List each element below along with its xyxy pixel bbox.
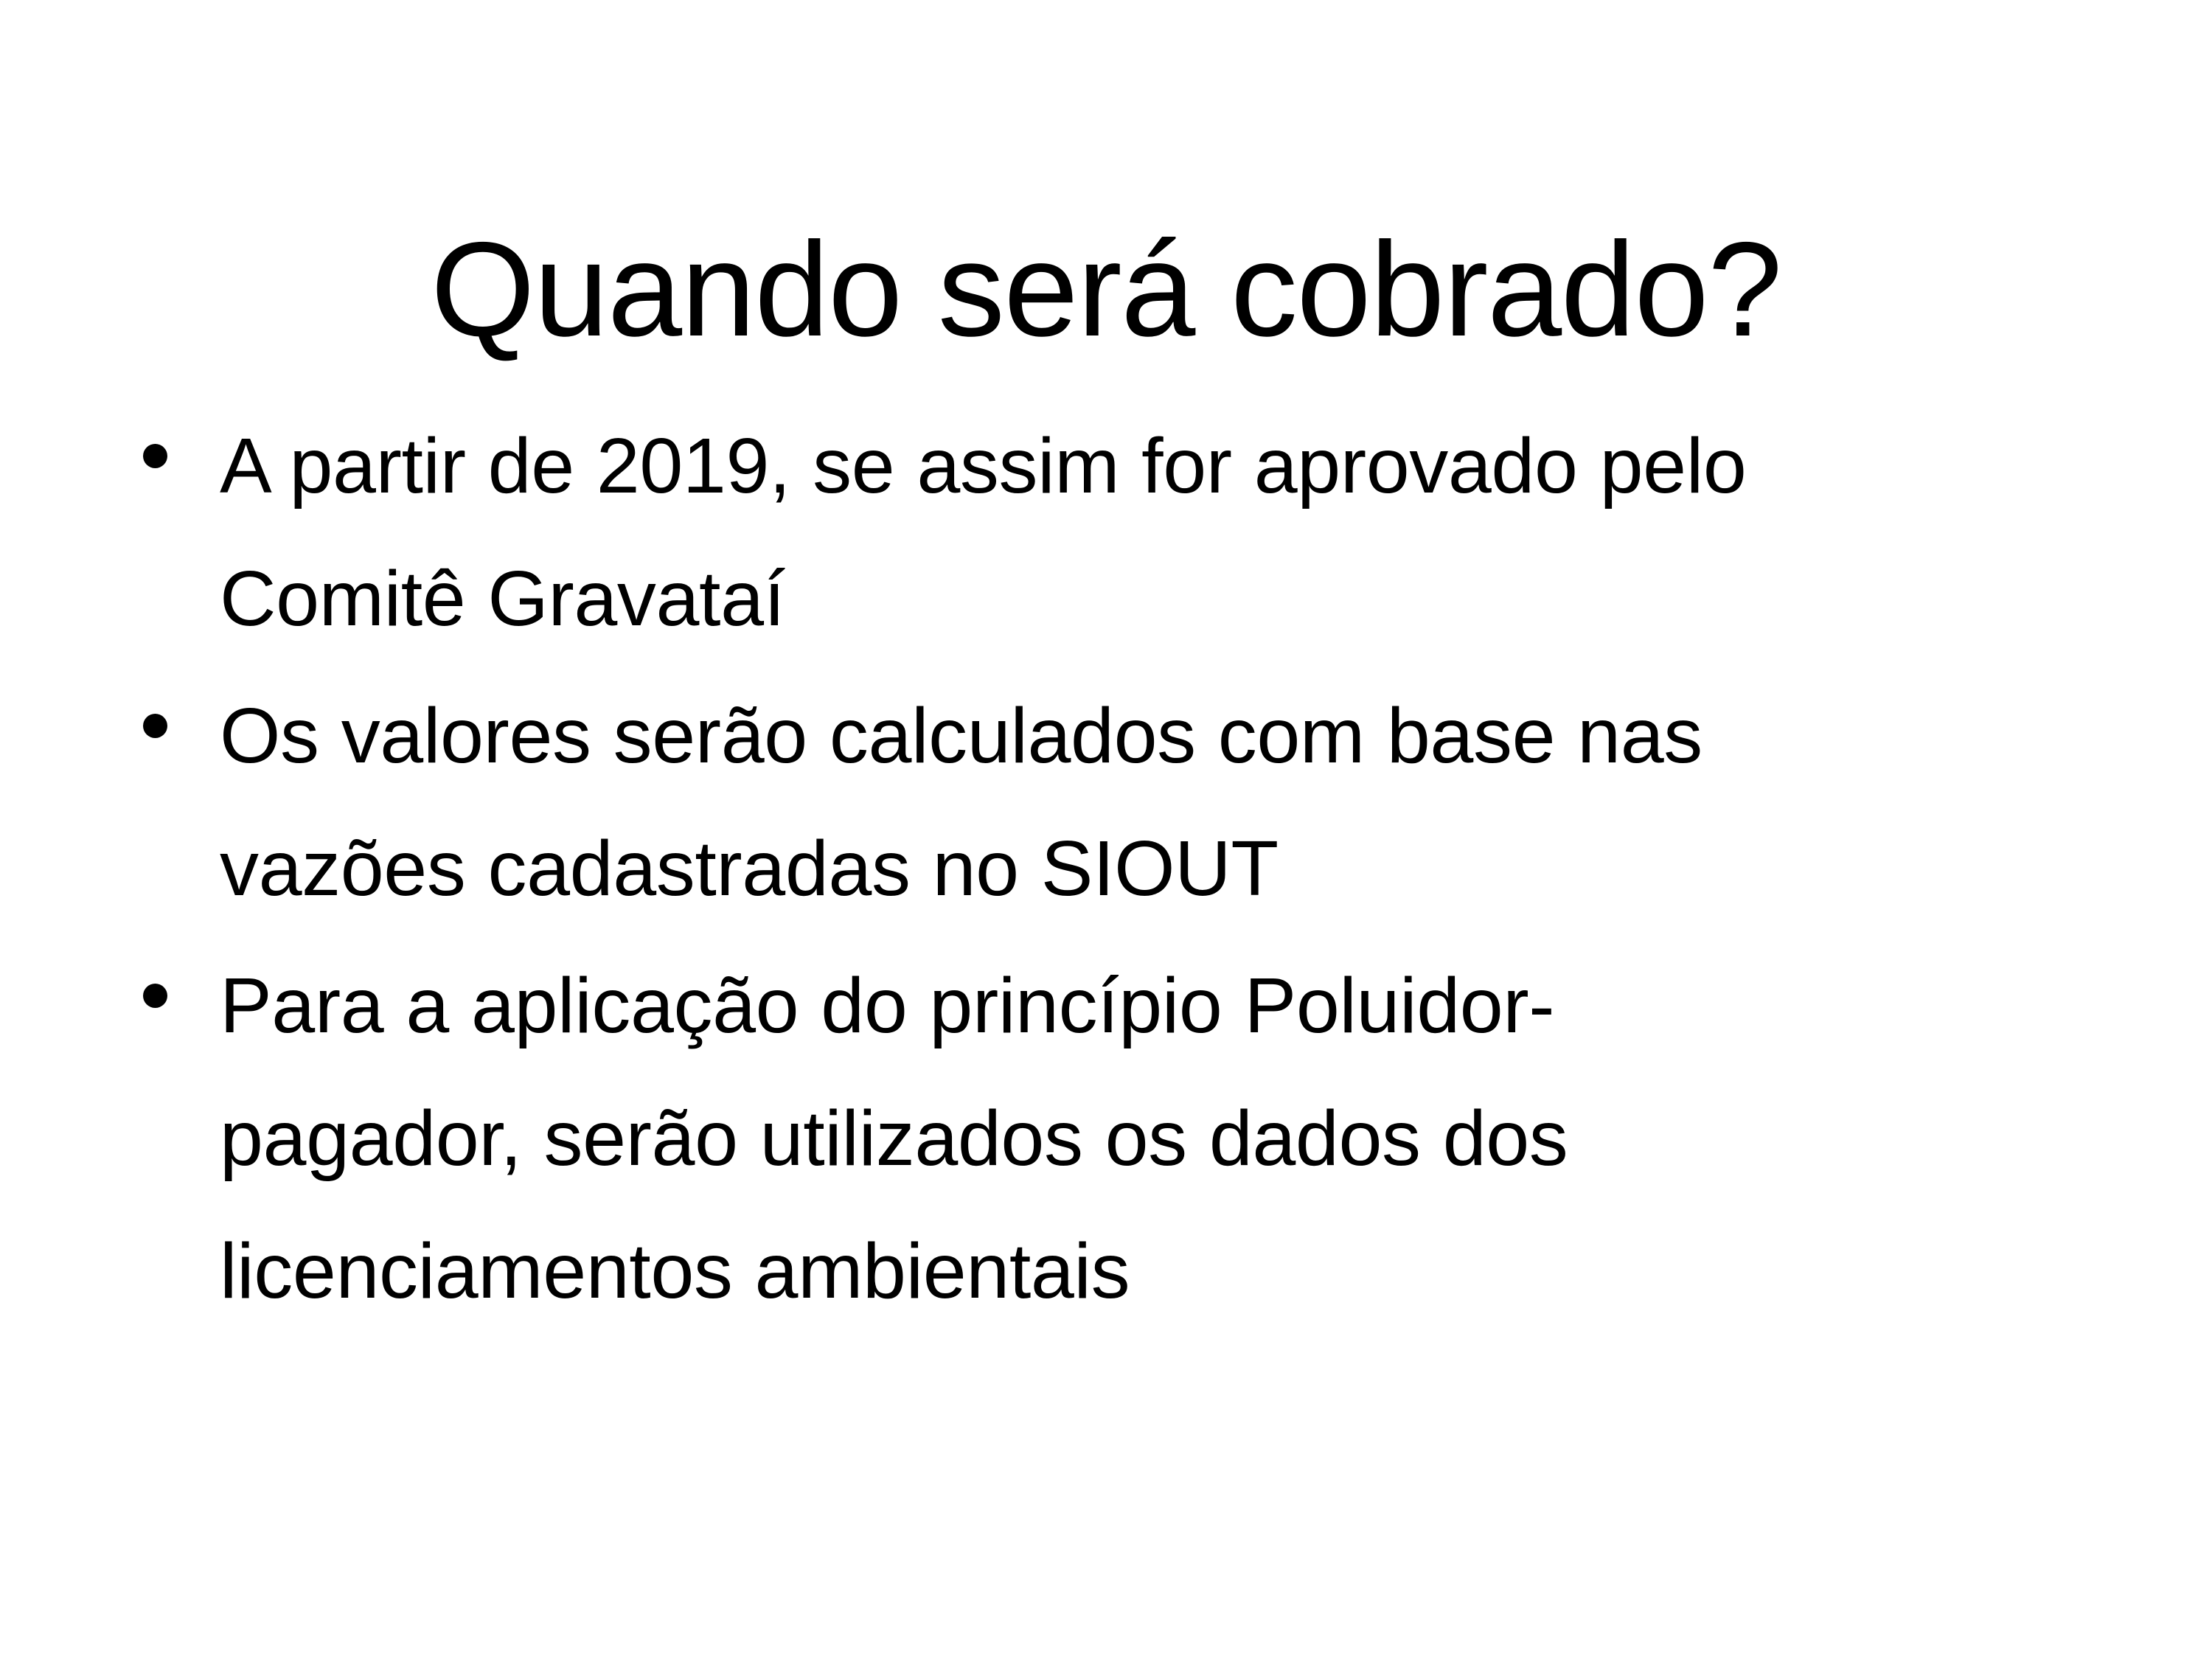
bullet-dot-icon (143, 714, 167, 738)
list-item-label: Os valores serão calculados com base nas… (220, 669, 1871, 935)
bullet-dot-icon (143, 984, 167, 1008)
list-item: Os valores serão calculados com base nas… (125, 669, 2042, 935)
presentation-slide: Quando será cobrado? A partir de 2019, s… (0, 0, 2212, 1659)
bullet-list: A partir de 2019, se assim for aprovado … (125, 400, 2042, 1342)
list-item-label: A partir de 2019, se assim for aprovado … (220, 400, 1989, 665)
list-item: Para a aplicação do princípio Poluidor-p… (125, 939, 2042, 1338)
bullet-dot-icon (143, 444, 167, 468)
list-item-label: Para a aplicação do princípio Poluidor-p… (220, 939, 1827, 1338)
page-title: Quando será cobrado? (133, 221, 2079, 358)
list-item: A partir de 2019, se assim for aprovado … (125, 400, 2042, 665)
